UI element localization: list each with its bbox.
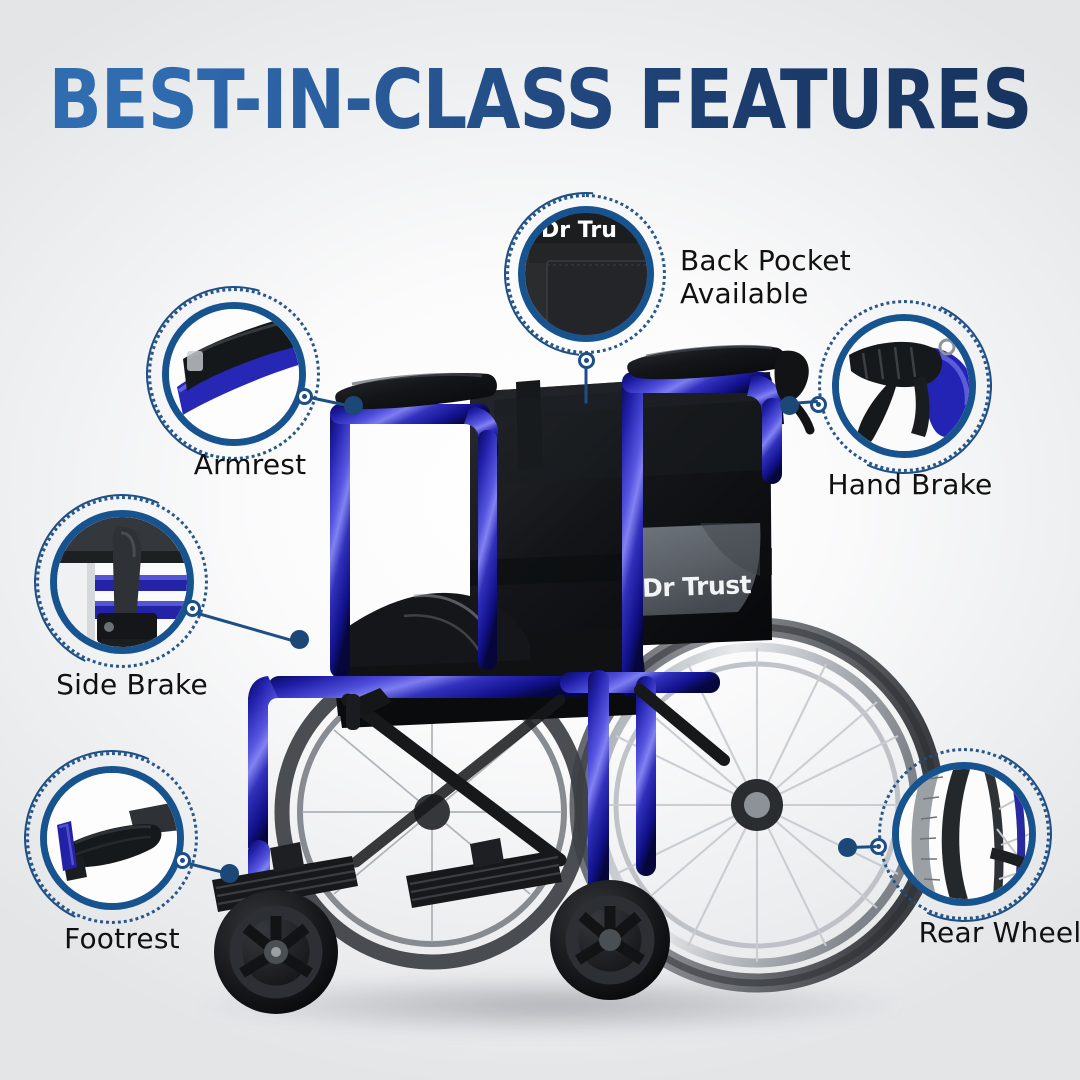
rear-wheel-connector-tip [838,838,857,857]
callout-label-armrest: Armrest [110,448,390,481]
back-pocket-connector-line [585,368,588,404]
armrest-icon [169,309,299,439]
callout-label-rear-wheel: Rear Wheel [850,916,1080,949]
side-brake-zoom-circle[interactable] [50,510,194,654]
back-pocket-connector-node [578,352,595,369]
back-pocket-label-line2: Available [680,277,809,310]
armrest-connector-tip [344,396,363,415]
product-brand-text: Dr Trust [642,570,752,603]
callout-label-side-brake: Side Brake [0,668,272,701]
rear-wheel-icon [899,769,1029,899]
callout-label-footrest: Footrest [0,922,262,955]
hand-brake-connector-node [810,396,827,413]
side-brake-icon [57,517,187,647]
rear-wheel-zoom-circle[interactable] [892,762,1036,906]
svg-text:Dr Tru: Dr Tru [541,218,617,243]
hand-brake-icon [839,321,969,451]
callout-label-hand-brake: Hand Brake [760,468,1060,501]
footrest-connector-tip [220,864,239,883]
footrest-icon [47,773,177,903]
back-pocket-zoom-circle[interactable]: Dr Tru [518,206,654,342]
hand-brake-connector-tip [780,396,799,415]
side-brake-connector-tip [290,630,309,649]
hand-brake-zoom-circle[interactable] [832,314,976,458]
callout-label-back-pocket: Back Pocket Available [680,244,910,310]
back-pocket-icon: Dr Tru [525,213,647,335]
footrest-connector-node [174,852,191,869]
footrest-zoom-circle[interactable] [40,766,184,910]
armrest-zoom-circle[interactable] [162,302,306,446]
back-pocket-label-line1: Back Pocket [680,244,851,277]
